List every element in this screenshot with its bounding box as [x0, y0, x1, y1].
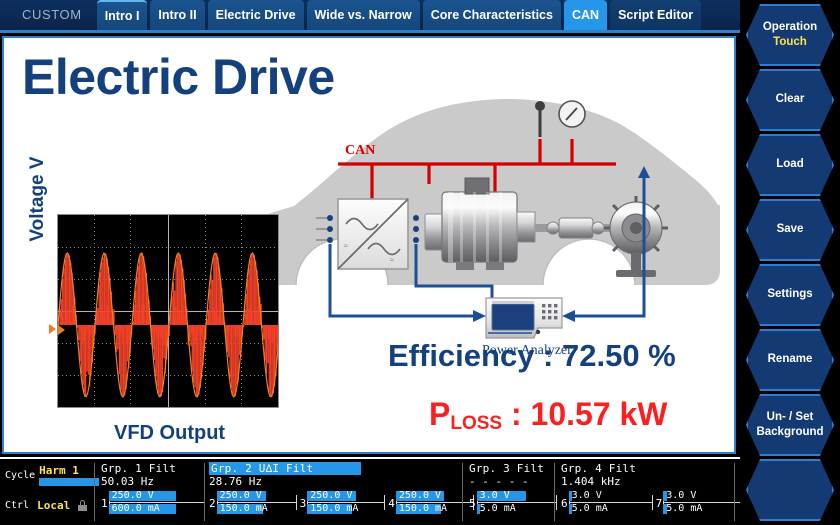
efficiency-readout: Efficiency : 72.50 % [388, 338, 676, 374]
channel-current: 5.0 mA [480, 503, 516, 514]
channel-item: 2250.0 V150.0 mA [209, 490, 297, 516]
group-header: Grp. 1 Filt [101, 462, 205, 475]
motor-terminals [413, 215, 419, 243]
sidebar-button-background-label-2: Background [756, 426, 823, 439]
channel-voltage: 3.0 V [572, 490, 602, 501]
channel-current: 600.0 mA [112, 503, 160, 514]
tab-can[interactable]: CAN [564, 0, 607, 30]
trigger-marker [58, 325, 65, 335]
sidebar-button-rename[interactable]: Rename [746, 329, 834, 391]
group-frequency: - - - - - [469, 475, 555, 488]
can-label: CAN [345, 143, 375, 158]
power-analyzer-device [486, 298, 562, 338]
sidebar-button-background-label-1: Un- / Set [767, 411, 814, 424]
cycle-value[interactable]: Harm 1 [39, 464, 99, 477]
tab-intro-ii[interactable]: Intro II [150, 0, 204, 30]
channel-current: 150.0 mA [399, 503, 447, 514]
diagram-svg: CAN ≈ ≈ [220, 66, 720, 366]
ploss-subscript: LOSS [450, 413, 502, 434]
sidebar-button-load[interactable]: Load [746, 134, 834, 196]
channel-number: 3 [300, 497, 307, 510]
tab-intro-i[interactable]: Intro I [97, 0, 148, 30]
scope-caption: VFD Output [114, 422, 225, 445]
sidebar-button-clear-label: Clear [776, 93, 805, 106]
lock-icon[interactable] [78, 500, 87, 511]
channel-number: 6 [561, 497, 568, 510]
channel-current: 150.0 mA [220, 503, 268, 514]
cycle-label: Cycle [5, 470, 35, 481]
channel-voltage: 250.0 V [112, 490, 154, 501]
channel-number: 7 [656, 497, 663, 510]
channel-number: 1 [101, 497, 108, 510]
channel-number: 4 [388, 497, 395, 510]
channel-item: 3250.0 V150.0 mA [300, 490, 386, 516]
sidebar-button-save[interactable]: Save [746, 199, 834, 261]
custom-label: CUSTOM [0, 7, 94, 30]
tab-script-editor[interactable]: Script Editor [610, 0, 701, 30]
tab-core-characteristics[interactable]: Core Characteristics [423, 0, 561, 30]
channel-voltage: 250.0 V [399, 490, 441, 501]
channel-number: 5 [469, 497, 476, 510]
main-content-panel: Electric Drive [2, 36, 736, 454]
sidebar-button-operation-label: Operation [763, 21, 817, 34]
channel-item: 53.0 V5.0 mA [469, 490, 557, 516]
sidebar-button-save-label: Save [777, 223, 804, 236]
sidebar-button-load-label: Load [776, 158, 803, 171]
waveform-trace [58, 215, 279, 408]
channel-current: 5.0 mA [572, 503, 608, 514]
ctrl-label: Ctrl [5, 500, 29, 511]
channel-voltage: 250.0 V [220, 490, 262, 501]
gauge-icon [559, 101, 585, 127]
status-group-4: Grp. 4 Filt1.404 kHz63.0 V5.0 mA73.0 V5.… [555, 459, 735, 525]
status-cycle-section: Cycle Harm 1 Ctrl Local [0, 459, 95, 525]
sidebar-button-rename-label: Rename [768, 353, 813, 366]
svg-text:≈: ≈ [390, 257, 394, 264]
sidebar-button-empty[interactable] [746, 459, 834, 521]
sidebar-button-clear[interactable]: Clear [746, 69, 834, 131]
power-loss-readout: PLOSS : 10.57 kW [429, 396, 667, 433]
right-sidebar: Operation Touch Clear Load Save Settings… [740, 0, 840, 525]
channel-item: 63.0 V5.0 mA [561, 490, 653, 516]
channel-voltage: 3.0 V [666, 490, 696, 501]
ploss-value: : 10.57 kW [502, 396, 667, 432]
channel-voltage: 3.0 V [480, 490, 510, 501]
cycle-bar [39, 478, 99, 486]
group-header: Grp. 4 Filt [561, 462, 735, 475]
sidebar-button-settings[interactable]: Settings [746, 264, 834, 326]
tab-wide-vs-narrow[interactable]: Wide vs. Narrow [307, 0, 420, 30]
channel-current: 5.0 mA [666, 503, 702, 514]
sidebar-button-settings-label: Settings [767, 288, 812, 301]
sidebar-button-operation[interactable]: Operation Touch [746, 4, 834, 66]
electric-drive-diagram: CAN ≈ ≈ [220, 66, 720, 366]
inverter-symbol: ≈ ≈ [338, 199, 408, 269]
ctrl-value[interactable]: Local [37, 499, 70, 512]
application-window: CUSTOM Intro I Intro II Electric Drive W… [0, 0, 840, 525]
group-header: Grp. 3 Filt [469, 462, 555, 475]
sidebar-button-background[interactable]: Un- / Set Background [746, 394, 834, 456]
group-header: Grp. 2 U∆I Filt [209, 462, 463, 475]
svg-text:≈: ≈ [344, 243, 348, 250]
status-group-2: Grp. 2 U∆I Filt28.76 Hz2250.0 V150.0 mA3… [205, 459, 463, 525]
vfd-waveform-scope [57, 214, 279, 408]
sidebar-button-operation-value: Touch [773, 36, 807, 49]
group-frequency: 1.404 kHz [561, 475, 735, 488]
scope-channel-marker [49, 324, 56, 334]
channel-current: 150.0 mA [310, 503, 358, 514]
status-group-1: Grp. 1 Filt50.03 Hz1250.0 V600.0 mA [95, 459, 205, 525]
channel-number: 2 [209, 497, 216, 510]
tab-electric-drive[interactable]: Electric Drive [208, 0, 304, 30]
tab-bar: CUSTOM Intro I Intro II Electric Drive W… [0, 0, 740, 33]
channel-item: 1250.0 V600.0 mA [101, 490, 205, 516]
status-bar: Cycle Harm 1 Ctrl Local Grp. 1 Filt50.03… [0, 457, 740, 525]
status-group-3: Grp. 3 Filt- - - - -53.0 V5.0 mA [463, 459, 555, 525]
channel-voltage: 250.0 V [310, 490, 352, 501]
group-frequency: 28.76 Hz [209, 475, 463, 488]
group-frequency: 50.03 Hz [101, 475, 205, 488]
ploss-prefix: P [429, 396, 450, 432]
scope-y-axis-label: Voltage V [27, 139, 49, 259]
